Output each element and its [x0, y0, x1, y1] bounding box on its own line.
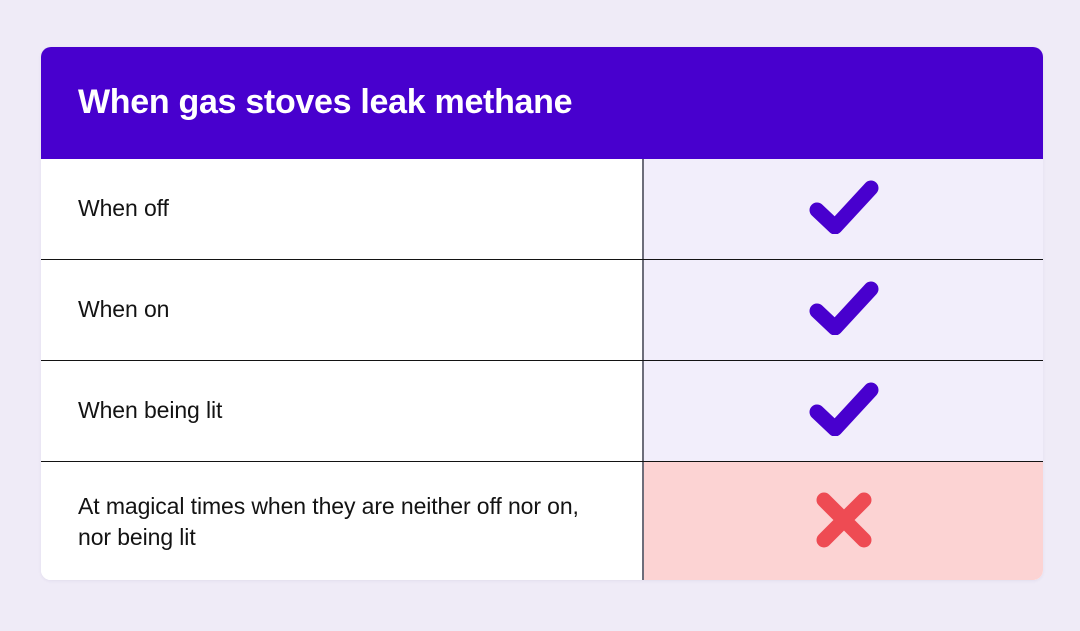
check-icon [809, 382, 879, 441]
check-icon [809, 281, 879, 340]
table-row: When off [41, 159, 1043, 260]
row-label: When on [78, 294, 169, 325]
comparison-table: When off When on [41, 159, 1043, 580]
row-label: When being lit [78, 395, 222, 426]
table-cell-label: When off [41, 159, 644, 259]
row-label: At magical times when they are neither o… [78, 491, 605, 554]
check-icon [809, 180, 879, 239]
table-cell-mark [644, 462, 1043, 580]
card-header: When gas stoves leak methane [41, 47, 1043, 159]
table-cell-mark [644, 159, 1043, 259]
table-cell-label: At magical times when they are neither o… [41, 462, 644, 580]
page-title: When gas stoves leak methane [78, 84, 572, 121]
row-label: When off [78, 193, 169, 224]
page-root: When gas stoves leak methane When off [0, 0, 1080, 631]
table-row: At magical times when they are neither o… [41, 462, 1043, 580]
table-row: When being lit [41, 361, 1043, 462]
table-cell-label: When on [41, 260, 644, 360]
table-row: When on [41, 260, 1043, 361]
cross-icon [813, 489, 875, 556]
comparison-card: When gas stoves leak methane When off [41, 47, 1043, 580]
table-cell-mark [644, 260, 1043, 360]
table-cell-mark [644, 361, 1043, 461]
table-cell-label: When being lit [41, 361, 644, 461]
